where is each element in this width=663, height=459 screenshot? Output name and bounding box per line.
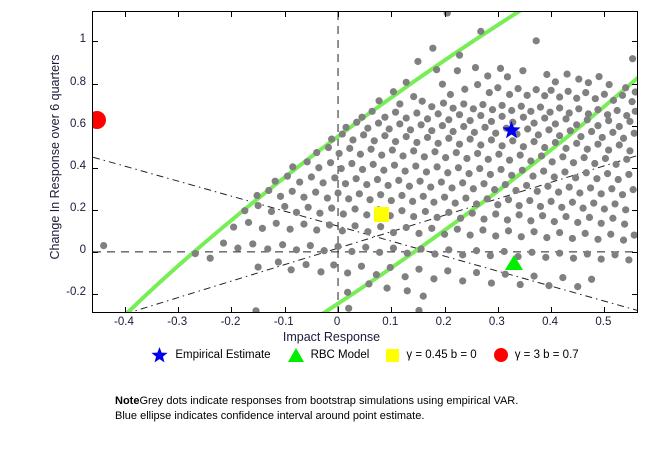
scatter-point [351,205,358,212]
scatter-point [316,210,323,217]
scatter-point [430,199,437,206]
scatter-point [495,151,502,158]
scatter-point [445,135,452,142]
scatter-point [272,178,279,185]
scatter-point [442,154,449,161]
scatter-point [608,185,615,192]
scatter-point [340,210,347,217]
scatter-point [241,207,248,214]
scatter-point [315,164,322,171]
scatter-point [562,145,569,152]
scatter-point [472,64,479,71]
scatter-point [574,283,581,290]
scatter-point [569,199,576,206]
scatter-point [573,140,580,147]
scatter-point [487,171,494,178]
scatter-point [505,227,512,234]
scatter-point [527,217,534,224]
scatter-point [438,178,445,185]
y-tick [93,252,98,253]
scatter-point [582,89,589,96]
scatter-point [444,267,451,274]
scatter-point [363,211,370,218]
scatter-point [304,158,311,165]
scatter-point [631,231,638,238]
scatter-point [253,192,260,199]
scatter-point [249,240,256,247]
scatter-point [551,218,558,225]
scatter-point [555,189,562,196]
scatter-point [302,261,309,268]
x-tick [445,12,446,17]
x-tick-label: 0.1 [370,316,410,328]
scatter-point [625,171,632,178]
x-tick-label: 0.3 [477,316,517,328]
scatter-point [604,170,611,177]
scatter-point [516,202,523,209]
scatter-point [419,98,426,105]
x-tick-label: 0.5 [583,316,623,328]
scatter-point [342,180,349,187]
scatter-point [632,108,638,115]
scatter-point [410,93,417,100]
scatter-points [100,12,638,313]
scatter-point [364,125,371,132]
scatter-point [485,156,492,163]
scatter-point [365,280,372,287]
scatter-point [543,71,550,78]
scatter-point [561,168,568,175]
y-tick-label: 1 [50,33,86,45]
scatter-point [424,115,431,122]
scatter-point [570,255,577,262]
scatter-point [595,73,602,80]
note-line-1-text: Grey dots indicate responses from bootst… [139,395,518,407]
scatter-point [383,285,390,292]
scatter-point [377,191,384,198]
x-tick-label: 0.4 [530,316,570,328]
scatter-point [539,212,546,219]
scatter-point [317,268,324,275]
scatter-point [377,223,384,230]
scatter-point [605,146,612,153]
scatter-point [459,179,466,186]
x-tick-label: -0.4 [104,316,144,328]
scatter-point [390,229,397,236]
scatter-point [415,230,422,237]
scatter-point [328,136,335,143]
scatter-point [456,141,463,148]
scatter-point [584,250,591,257]
scatter-point [622,84,629,91]
scatter-point [344,269,351,276]
scatter-point [434,214,441,221]
scatter-point [615,176,622,183]
scatter-point [499,142,506,149]
scatter-point [575,76,582,83]
scatter-point [594,141,601,148]
scatter-point [326,221,333,228]
scatter-point [465,170,472,177]
scatter-point [576,189,583,196]
scatter-point [523,182,530,189]
scatter-point [369,108,376,115]
scatter-point [325,144,332,151]
scatter-point [538,152,545,159]
scatter-point [556,132,563,139]
scatter-point [474,81,481,88]
scatter-point [439,122,446,129]
scatter-point [268,208,275,215]
x-tick [178,12,179,17]
scatter-point [413,139,420,146]
scatter-point [474,150,481,157]
scatter-point [579,205,586,212]
scatter-point [584,116,591,123]
scatter-point [471,129,478,136]
scatter-point [338,165,345,172]
scatter-point [577,133,584,140]
scatter-point [293,246,300,253]
scatter-point [565,88,572,95]
scatter-point [563,70,570,77]
scatter-point [625,256,632,263]
scatter-point [611,251,618,258]
legend-label: γ = 3 b = 0.7 [515,349,579,361]
scatter-point [344,289,351,296]
scatter-point [488,136,495,143]
y-tick [93,84,98,85]
scatter-point [544,183,551,190]
scatter-point [308,173,315,180]
scatter-point [542,254,549,261]
scatter-point [373,271,380,278]
scatter-point [506,91,513,98]
scatter-point [492,130,499,137]
scatter-point [556,250,563,257]
marker-gamma045-square [374,207,389,222]
scatter-point [420,193,427,200]
scatter-point [230,223,237,230]
legend-item-2[interactable]: γ = 0.45 b = 0 [386,349,476,362]
note-bold-prefix: Note [115,395,139,407]
scatter-point [476,165,483,172]
scatter-point [530,228,537,235]
scatter-point [410,147,417,154]
scatter-point [583,169,590,176]
scatter-point [265,187,272,194]
scatter-point [403,79,410,86]
x-tick [338,307,339,312]
scatter-point [259,225,266,232]
scatter-point [413,109,420,116]
scatter-point [517,152,524,159]
y-tick-label: 0.8 [50,76,86,88]
scatter-point [628,98,635,105]
scatter-point [607,231,614,238]
legend-square-icon [386,349,399,362]
x-tick [604,307,605,312]
scatter-point [517,281,524,288]
x-tick [551,307,552,312]
scatter-point [530,138,537,145]
scatter-point [584,146,591,153]
scatter-point [327,159,334,166]
scatter-point [562,115,569,122]
scatter-point [506,157,513,164]
scatter-point [416,178,423,185]
scatter-point [556,104,563,111]
scatter-point [590,199,597,206]
scatter-point [403,133,410,140]
scatter-point [428,225,435,232]
scatter-point [573,95,580,102]
scatter-point [313,149,320,156]
scatter-point [331,174,338,181]
scatter-point [359,166,366,173]
scatter-point [524,125,531,132]
scatter-point [279,241,286,248]
scatter-point [403,224,410,231]
x-tick-label: 0 [317,316,357,328]
plot-area [92,11,638,313]
scatter-point [428,103,435,110]
scatter-point [358,263,365,270]
scatter-point [533,86,540,93]
scatter-point [549,158,556,165]
scatter-point [502,181,509,188]
scatter-point [631,130,638,137]
scatter-point [519,167,526,174]
legend-item-0[interactable]: Empirical Estimate [151,347,270,364]
scatter-point [321,247,328,254]
scatter-point [404,250,411,257]
chart-figure: Change In Response over 6 quarters -0.20… [0,0,663,459]
scatter-point [415,266,422,273]
scatter-point [420,293,427,300]
scatter-point [447,91,454,98]
scatter-point [594,106,601,113]
y-tick [93,41,98,42]
scatter-point [581,154,588,161]
scatter-point [255,263,262,270]
scatter-point [545,282,552,289]
scatter-point [388,197,395,204]
scatter-point [588,276,595,283]
scatter-point [616,141,623,148]
scatter-point [588,128,595,135]
scatter-point [481,124,488,131]
legend-item-1[interactable]: RBC Model [288,348,370,362]
scatter-point [445,116,452,123]
scatter-point [562,213,569,220]
scatter-point [402,273,409,280]
scatter-point [543,234,550,241]
scatter-point [524,92,531,99]
scatter-point [556,93,563,100]
scatter-point [387,264,394,271]
scatter-point [497,166,504,173]
scatter-point [370,161,377,168]
scatter-point [526,197,533,204]
scatter-point [488,279,495,286]
x-tick [498,307,499,312]
scatter-point [540,168,547,175]
scatter-point [252,307,259,313]
x-tick [338,12,339,17]
y-tick [632,168,637,169]
scatter-point [395,177,402,184]
scatter-point [594,236,601,243]
scatter-point [504,73,511,80]
scatter-point [449,128,456,135]
scatter-point [610,97,617,104]
marker-rbc-model-triangle [505,255,523,270]
scatter-point [348,248,355,255]
scatter-point [346,145,353,152]
scatter-point [611,200,618,207]
scatter-point [529,173,536,180]
scatter-point [614,107,621,114]
scatter-point [293,209,300,216]
scatter-point [324,194,331,201]
scatter-point [459,251,466,258]
scatter-point [548,198,555,205]
scatter-point [455,164,462,171]
scatter-point [453,149,460,156]
x-tick [125,307,126,312]
scatter-point [537,104,544,111]
scatter-point [518,103,525,110]
scatter-point [392,109,399,116]
scatter-point [264,245,271,252]
scatter-point [499,113,506,120]
scatter-point [575,105,582,112]
scatter-point [545,126,552,133]
scatter-point [594,122,601,129]
y-tick [93,168,98,169]
scatter-point [621,221,628,228]
scatter-point [467,231,474,238]
scatter-point [390,88,397,95]
scatter-point [313,226,320,233]
scatter-point [452,199,459,206]
scatter-point [421,153,428,160]
scatter-point [357,151,364,158]
scatter-point [559,274,566,281]
scatter-point [375,120,382,127]
scatter-point [591,160,598,167]
scatter-point [559,153,566,160]
y-tick [632,252,637,253]
scatter-point [548,87,555,94]
scatter-point [100,242,107,249]
scatter-point [514,85,521,92]
marker-empirical-estimate-star [502,121,521,140]
legend-item-3[interactable]: γ = 3 b = 0.7 [494,348,579,362]
scatter-point [632,88,638,95]
scatter-point [502,271,509,278]
scatter-point [305,204,312,211]
scatter-point [381,132,388,139]
scatter-point [467,136,474,143]
x-tick-label: -0.2 [210,316,250,328]
scatter-point [620,237,627,244]
scatter-point [556,229,563,236]
scatter-point [428,127,435,134]
scatter-point [440,100,447,107]
scatter-point [349,136,356,143]
scatter-point [487,252,494,259]
scatter-point [378,152,385,159]
scatter-point [491,186,498,193]
scatter-point [473,247,480,254]
scatter-point [286,226,293,233]
scatter-point [461,86,468,93]
scatter-point [192,250,199,257]
legend-label: Empirical Estimate [175,349,270,361]
scatter-point [606,81,613,88]
scatter-point [508,172,515,179]
scatter-point [275,258,282,265]
x-tick [285,12,286,17]
scatter-point [492,210,499,217]
scatter-point [486,89,493,96]
scatter-point [345,305,352,312]
scatter-point [626,118,633,125]
scatter-point [404,287,411,294]
scatter-point [619,92,626,99]
scatter-point [572,174,579,181]
scatter-point [418,121,425,128]
scatter-point [335,150,342,157]
scatter-point [300,221,307,228]
scatter-point [505,196,512,203]
note-line-2-text: Blue ellipse indicates confidence interv… [115,409,585,424]
scatter-point [363,181,370,188]
x-tick [391,307,392,312]
scatter-point [345,195,352,202]
scatter-point [477,112,484,119]
y-tick [93,210,98,211]
scatter-point [399,152,406,159]
scatter-point [546,109,553,116]
y-tick [632,210,637,211]
legend-label: RBC Model [311,349,370,361]
scatter-point [492,232,499,239]
x-tick-label: -0.3 [157,316,197,328]
scatter-point [484,195,491,202]
scatter-point [552,78,559,85]
scatter-point [494,84,501,91]
scatter-point [445,209,452,216]
scatter-point [626,147,633,154]
scatter-point [424,134,431,141]
scatter-point [629,55,636,62]
legend-star-icon [151,347,168,364]
scatter-point [289,163,296,170]
scatter-point [312,189,319,196]
scatter-point [334,243,341,250]
scatter-point [480,180,487,187]
scatter-point [456,52,463,59]
scatter-point [598,255,605,262]
scatter-point [328,205,335,212]
scatter-point [418,245,425,252]
scatter-point [356,190,363,197]
scatter-point [245,219,252,226]
scatter-point [456,111,463,118]
